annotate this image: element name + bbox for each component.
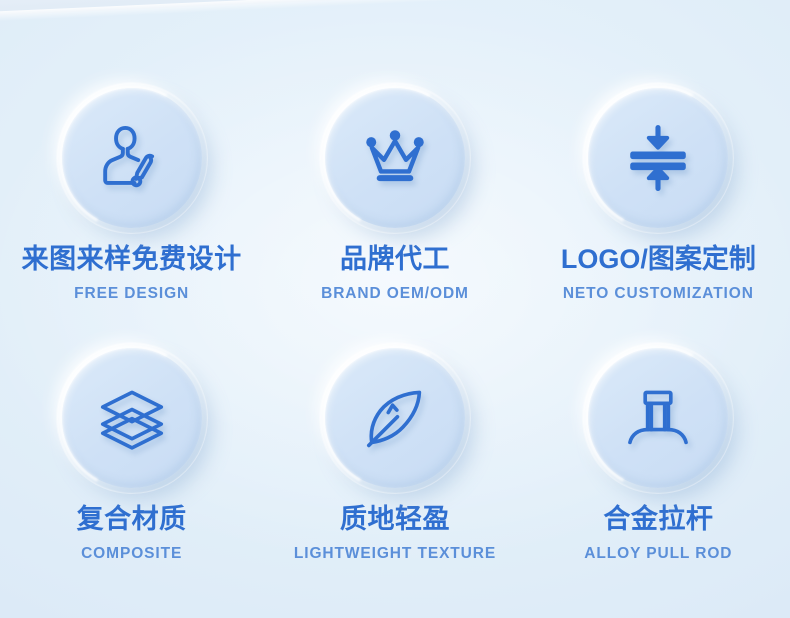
icon-disc: [325, 88, 465, 228]
feature-item-composite: 复合材质 COMPOSITE: [0, 318, 263, 618]
feature-labels: 质地轻盈 LIGHTWEIGHT TEXTURE: [294, 506, 496, 562]
compress-arrows-icon: [619, 119, 697, 197]
feature-item-brand-oem: 品牌代工 BRAND OEM/ODM: [263, 0, 526, 318]
feature-title-en: ALLOY PULL ROD: [584, 546, 732, 562]
feature-title-cn: 品牌代工: [321, 246, 469, 273]
stacked-layers-icon: [93, 379, 171, 457]
icon-disc: [325, 348, 465, 488]
feature-labels: 复合材质 COMPOSITE: [77, 506, 187, 562]
feature-title-en: FREE DESIGN: [22, 286, 242, 302]
designer-person-pen-icon: [93, 119, 171, 197]
feature-title-en: COMPOSITE: [77, 546, 187, 562]
icon-disc: [588, 348, 728, 488]
feature-item-logo-customization: LOGO/图案定制 NETO CUSTOMIZATION: [527, 0, 790, 318]
feature-grid: 来图来样免费设计 FREE DESIGN 品牌代工 B: [0, 0, 790, 618]
feature-item-alloy-pull-rod: 合金拉杆 ALLOY PULL ROD: [527, 318, 790, 618]
feature-title-en: NETO CUSTOMIZATION: [561, 286, 756, 302]
icon-disc: [62, 88, 202, 228]
feature-banner: 来图来样免费设计 FREE DESIGN 品牌代工 B: [0, 0, 790, 618]
crown-icon: [356, 119, 434, 197]
feature-title-cn: LOGO/图案定制: [561, 246, 756, 273]
feature-labels: 合金拉杆 ALLOY PULL ROD: [584, 506, 732, 562]
feature-title-cn: 质地轻盈: [294, 506, 496, 533]
icon-disc: [62, 348, 202, 488]
feature-labels: 来图来样免费设计 FREE DESIGN: [22, 246, 242, 302]
feather-icon: [356, 379, 434, 457]
feature-title-cn: 来图来样免费设计: [22, 246, 242, 273]
feature-labels: LOGO/图案定制 NETO CUSTOMIZATION: [561, 246, 756, 302]
feature-title-en: BRAND OEM/ODM: [321, 286, 469, 302]
luggage-pull-rod-icon: [619, 379, 697, 457]
icon-disc: [588, 88, 728, 228]
feature-title-en: LIGHTWEIGHT TEXTURE: [294, 546, 496, 562]
feature-title-cn: 合金拉杆: [584, 506, 732, 533]
feature-title-cn: 复合材质: [77, 506, 187, 533]
feature-item-free-design: 来图来样免费设计 FREE DESIGN: [0, 0, 263, 318]
feature-labels: 品牌代工 BRAND OEM/ODM: [321, 246, 469, 302]
feature-item-lightweight: 质地轻盈 LIGHTWEIGHT TEXTURE: [263, 318, 526, 618]
